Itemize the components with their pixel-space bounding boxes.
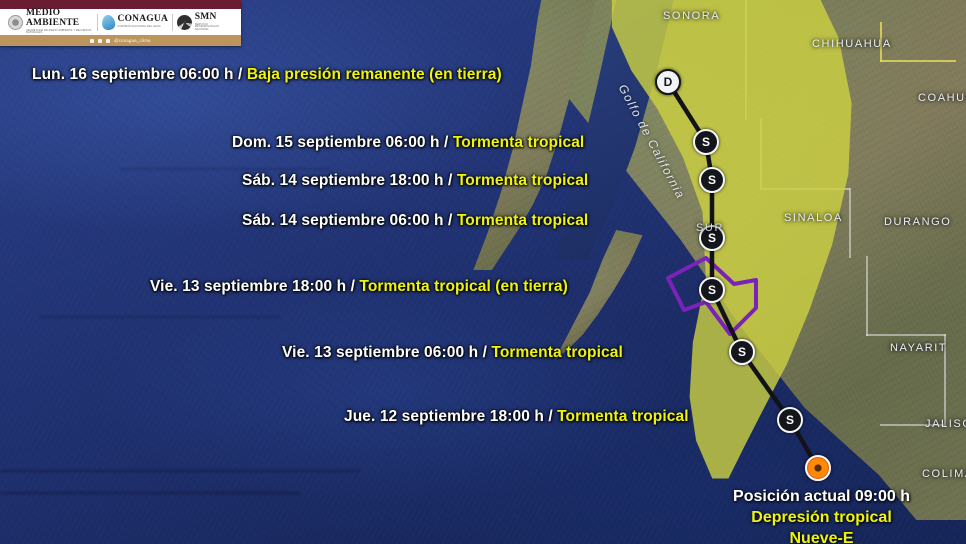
forecast-label-sab-14-1800: Sáb. 14 septiembre 18:00 h / Tormenta tr… (242, 172, 588, 190)
forecast-map-screenshot: S S S S S S D SONORA CHIHUAHUA COAHUILA … (0, 0, 966, 544)
track-marker-s[interactable]: S (729, 339, 755, 365)
twitter-icon[interactable] (98, 39, 102, 43)
current-position-time: Posición actual 09:00 h (733, 488, 910, 506)
brand-conagua-subtitle: COMISIÓN NACIONAL DEL AGUA (118, 26, 168, 29)
logo-bar-brands: MEDIO AMBIENTE SECRETARÍA DE MEDIO AMBIE… (0, 9, 241, 35)
logo-bar-social-stripe: @conagua_clima (0, 35, 241, 46)
forecast-category: Tormenta tropical (en tierra) (359, 278, 567, 295)
facebook-icon[interactable] (90, 39, 94, 43)
track-marker-s[interactable]: S (699, 277, 725, 303)
track-marker-d[interactable]: D (655, 69, 681, 95)
state-border (866, 256, 868, 336)
state-border (866, 334, 946, 336)
forecast-category: Tormenta tropical (557, 408, 688, 425)
brand-medio-ambiente-title: MEDIO AMBIENTE (26, 9, 93, 28)
state-label-chihuahua: CHIHUAHUA (812, 38, 892, 50)
forecast-datetime: Vie. 13 septiembre 18:00 h (150, 278, 346, 295)
brand-medio-ambiente-subtitle: SECRETARÍA DE MEDIO AMBIENTE Y RECURSOS … (26, 30, 93, 35)
forecast-category: Tormenta tropical (457, 172, 588, 189)
state-label-nayarit: NAYARIT (890, 342, 947, 354)
ocean-ridge (120, 168, 330, 170)
forecast-separator: / (234, 66, 247, 83)
brand-conagua: CONAGUA COMISIÓN NACIONAL DEL AGUA (98, 15, 172, 30)
track-marker-s[interactable]: S (693, 129, 719, 155)
forecast-separator: / (440, 134, 453, 151)
state-label-jalisco: JALISCO (925, 418, 966, 430)
forecast-label-vie-13-0600: Vie. 13 septiembre 06:00 h / Tormenta tr… (282, 344, 623, 362)
forecast-category: Tormenta tropical (453, 134, 584, 151)
forecast-label-vie-13-1800: Vie. 13 septiembre 18:00 h / Tormenta tr… (150, 278, 568, 296)
brand-smn: SMN SERVICIO METEOROLÓGICO NACIONAL (173, 13, 237, 32)
international-border (880, 60, 956, 62)
water-drop-icon (101, 14, 116, 31)
forecast-separator: / (346, 278, 359, 295)
forecast-label-lun-16-0600: Lun. 16 septiembre 06:00 h / Baja presió… (32, 66, 502, 84)
state-label-colima: COLIMA (922, 468, 966, 480)
brand-medio-ambiente: MEDIO AMBIENTE SECRETARÍA DE MEDIO AMBIE… (4, 9, 97, 35)
state-label-sinaloa: SINALOA (784, 212, 843, 224)
track-marker-s[interactable]: S (777, 407, 803, 433)
current-position-category: Depresión tropical (733, 509, 910, 527)
forecast-label-jue-12-1800: Jue. 12 septiembre 18:00 h / Tormenta tr… (344, 408, 689, 426)
state-label-coahuila: COAHUILA (918, 92, 966, 104)
forecast-separator: / (444, 212, 457, 229)
state-label-durango: DURANGO (884, 216, 951, 228)
forecast-datetime: Sáb. 14 septiembre 06:00 h (242, 212, 444, 229)
ocean-ridge (40, 316, 280, 318)
forecast-datetime: Lun. 16 septiembre 06:00 h (32, 66, 234, 83)
smn-emblem-icon (177, 15, 192, 30)
youtube-icon[interactable] (106, 39, 110, 43)
brand-conagua-title: CONAGUA (118, 15, 168, 25)
national-seal-icon (8, 15, 23, 30)
forecast-category: Baja presión remanente (en tierra) (247, 66, 502, 83)
state-border (849, 188, 851, 258)
current-position-name: Nueve-E (733, 530, 910, 544)
social-handle: @conagua_clima (114, 38, 151, 43)
forecast-datetime: Jue. 12 septiembre 18:00 h (344, 408, 544, 425)
brand-smn-subtitle: SERVICIO METEOROLÓGICO NACIONAL (195, 24, 233, 32)
forecast-separator: / (544, 408, 557, 425)
forecast-datetime: Sáb. 14 septiembre 18:00 h (242, 172, 444, 189)
forecast-datetime: Vie. 13 septiembre 06:00 h (282, 344, 478, 361)
state-label-baja-california-sur: SUR (696, 222, 724, 234)
forecast-separator: / (478, 344, 491, 361)
brand-smn-title: SMN (195, 13, 233, 23)
warning-area-polygon (660, 250, 790, 340)
ocean-ridge (0, 492, 300, 494)
forecast-datetime: Dom. 15 septiembre 06:00 h (232, 134, 440, 151)
government-logo-bar: MEDIO AMBIENTE SECRETARÍA DE MEDIO AMBIE… (0, 0, 241, 46)
forecast-label-sab-14-0600: Sáb. 14 septiembre 06:00 h / Tormenta tr… (242, 212, 588, 230)
ocean-ridge (0, 470, 360, 472)
forecast-category: Tormenta tropical (491, 344, 622, 361)
current-position-block: Posición actual 09:00 h Depresión tropic… (733, 488, 910, 544)
forecast-separator: / (444, 172, 457, 189)
track-marker-s[interactable]: S (699, 167, 725, 193)
forecast-category: Tormenta tropical (457, 212, 588, 229)
forecast-label-dom-15-0600: Dom. 15 septiembre 06:00 h / Tormenta tr… (232, 134, 584, 152)
current-position-marker[interactable] (805, 455, 831, 481)
state-label-sonora: SONORA (663, 10, 720, 22)
